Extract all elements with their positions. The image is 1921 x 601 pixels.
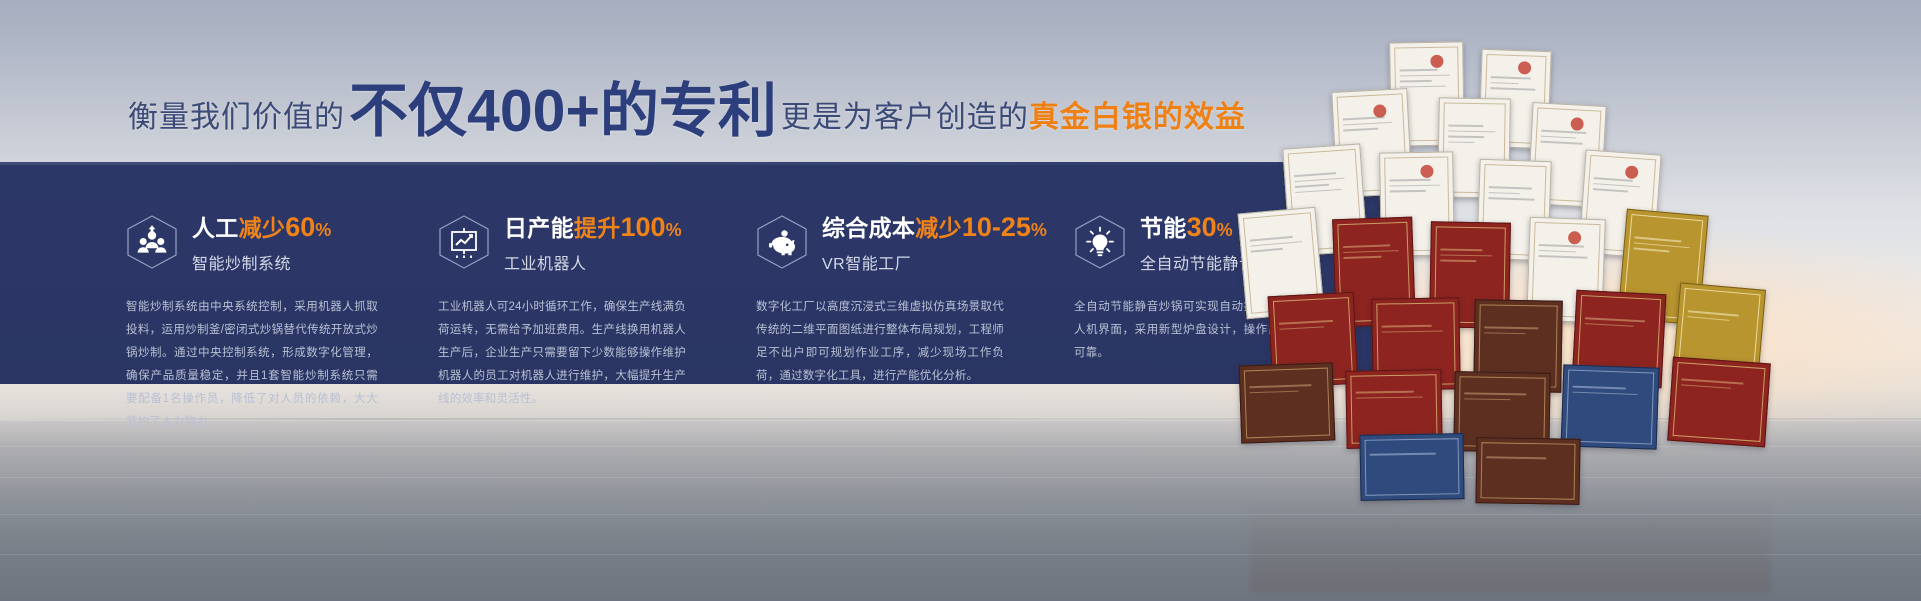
certificate: [1561, 364, 1660, 449]
feature-title-accent: 减少: [915, 215, 962, 241]
feature-subtitle: 工业机器人: [504, 250, 682, 274]
feature-header: 综合成本减少10-25% VR智能工厂: [756, 212, 1074, 274]
feature-item: 综合成本减少10-25% VR智能工厂 数字化工厂以高度沉浸式三维虚拟仿真场景取…: [756, 162, 1074, 384]
feature-titles: 日产能提升100% 工业机器人: [504, 212, 682, 274]
certificate-reflection: [1250, 498, 1770, 593]
features-panel: 人工减少60% 智能炒制系统 智能炒制系统由中央系统控制，采用机器人抓取投料，运…: [0, 162, 1403, 384]
feature-title-number: 60: [285, 212, 315, 242]
lightbulb-icon: [1074, 214, 1126, 270]
certificate: [1667, 357, 1771, 448]
headline-lead: 衡量我们价值的: [128, 92, 345, 136]
feature-title-number: 10-25: [962, 212, 1031, 242]
people-group-icon: [126, 214, 178, 270]
feature-titles: 综合成本减少10-25% VR智能工厂: [822, 212, 1047, 274]
features-list: 人工减少60% 智能炒制系统 智能炒制系统由中央系统控制，采用机器人抓取投料，运…: [0, 162, 1403, 384]
certificate: [1475, 437, 1580, 505]
feature-body: 工业机器人可24小时循环工作，确保生产线满负荷运转，无需给予加班费用。生产线换用…: [438, 296, 686, 411]
headline-emphasis: 不仅400+的专利: [349, 82, 777, 141]
feature-item: 人工减少60% 智能炒制系统 智能炒制系统由中央系统控制，采用机器人抓取投料，运…: [126, 162, 438, 384]
feature-title-plain: 日产能: [504, 215, 574, 241]
feature-title: 日产能提升100%: [504, 213, 682, 243]
feature-title-accent: 提升: [574, 215, 621, 241]
feature-subtitle: 智能炒制系统: [192, 250, 332, 274]
certificate: [1359, 433, 1464, 501]
feature-header: 日产能提升100% 工业机器人: [438, 212, 756, 274]
feature-title: 人工减少60%: [192, 213, 332, 243]
chart-board-icon: [438, 214, 490, 270]
feature-title: 综合成本减少10-25%: [822, 213, 1047, 243]
piggy-bank-icon: [756, 214, 808, 270]
feature-title-accent: 减少: [239, 215, 286, 241]
certificate-stack: [1230, 42, 1790, 502]
feature-item: 日产能提升100% 工业机器人 工业机器人可24小时循环工作，确保生产线满负荷运…: [438, 162, 756, 384]
feature-body: 数字化工厂以高度沉浸式三维虚拟仿真场景取代传统的二维平面图纸进行整体布局规划，工…: [756, 296, 1004, 388]
feature-titles: 人工减少60% 智能炒制系统: [192, 212, 332, 274]
headline-highlight: 真金白银的效益: [1029, 92, 1246, 136]
feature-title-unit: %: [666, 220, 682, 240]
feature-title-number: 100: [621, 212, 666, 242]
page-headline: 衡量我们价值的 不仅400+的专利 更是为客户创造的 真金白银的效益: [128, 78, 1246, 137]
feature-subtitle: VR智能工厂: [822, 250, 1047, 274]
feature-title-unit: %: [1031, 220, 1047, 240]
certificate: [1239, 362, 1336, 443]
headline-middle: 更是为客户创造的: [781, 92, 1029, 136]
feature-body: 智能炒制系统由中央系统控制，采用机器人抓取投料，运用炒制釜/密闭式炒锅替代传统开…: [126, 296, 378, 434]
feature-title-unit: %: [315, 220, 331, 240]
feature-title-plain: 综合成本: [822, 215, 915, 241]
feature-title-number: 30: [1187, 212, 1217, 242]
feature-title-plain: 节能: [1140, 215, 1187, 241]
feature-header: 人工减少60% 智能炒制系统: [126, 212, 438, 274]
feature-title-plain: 人工: [192, 215, 239, 241]
